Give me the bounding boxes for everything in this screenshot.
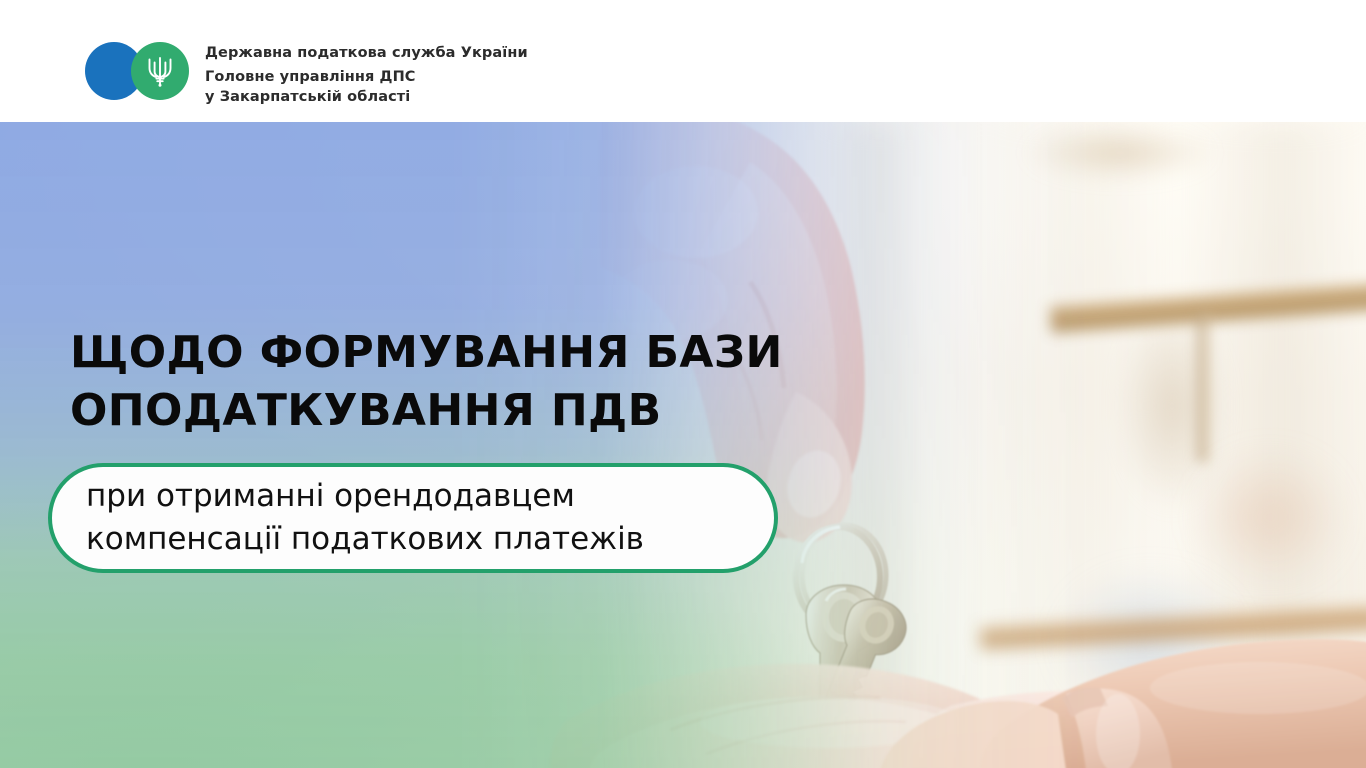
page-title: ЩОДО ФОРМУВАННЯ БАЗИ ОПОДАТКУВАННЯ ПДВ — [70, 324, 850, 440]
org-line-2: Головне управління ДПС — [205, 63, 528, 87]
organization-name-block: Державна податкова служба України Головн… — [205, 42, 528, 107]
headline-line-1: ЩОДО ФОРМУВАННЯ БАЗИ — [70, 324, 850, 382]
trident-icon — [131, 42, 189, 100]
subtitle-line-1: при отриманні орендодавцем — [86, 475, 740, 518]
headline-line-2: ОПОДАТКУВАННЯ ПДВ — [70, 382, 850, 440]
banner-content: ЩОДО ФОРМУВАННЯ БАЗИ ОПОДАТКУВАННЯ ПДВ п… — [0, 122, 1366, 768]
subtitle-line-2: компенсації податкових платежів — [86, 518, 740, 561]
site-header: Державна податкова служба України Головн… — [0, 0, 1366, 122]
organization-logo-block[interactable]: Державна податкова служба України Головн… — [85, 42, 528, 107]
org-line-1: Державна податкова служба України — [205, 43, 528, 63]
banner-canvas: ЩОДО ФОРМУВАННЯ БАЗИ ОПОДАТКУВАННЯ ПДВ п… — [0, 0, 1366, 768]
subtitle-pill: при отриманні орендодавцем компенсації п… — [48, 463, 778, 573]
org-line-3: у Закарпатській області — [205, 87, 528, 107]
dps-logo[interactable] — [85, 42, 189, 100]
